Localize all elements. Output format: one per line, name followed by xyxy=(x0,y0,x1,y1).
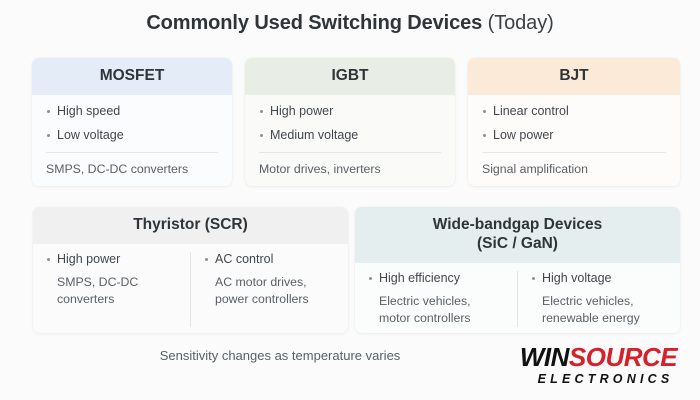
list-item: Low voltage xyxy=(46,128,218,143)
card-mosfet-bullets: High speed Low voltage xyxy=(46,104,218,152)
card-thyristor-body: High power SMPS, DC-DC converters AC con… xyxy=(33,244,348,333)
card-thyristor-title-line1: Thyristor (SCR) xyxy=(39,216,342,235)
card-thyristor-column-2: AC control AC motor drives, power contro… xyxy=(190,252,348,327)
list-item: High speed xyxy=(46,104,218,119)
card-wide-bandgap[interactable]: Wide-bandgap Devices (SiC / GaN) High ef… xyxy=(355,207,680,333)
page-title: Commonly Used Switching Devices (Today) xyxy=(0,12,700,35)
card-wide-bandgap-header: Wide-bandgap Devices (SiC / GaN) xyxy=(355,207,680,263)
list-item: Linear control xyxy=(482,104,666,119)
card-bjt-header: BJT xyxy=(468,58,680,95)
footer-note: Sensitivity changes as temperature varie… xyxy=(0,348,560,363)
card-igbt[interactable]: IGBT High power Medium voltage Motor dri… xyxy=(245,58,455,186)
card-igbt-bullets: High power Medium voltage xyxy=(259,104,441,152)
column-head: High power xyxy=(46,252,177,267)
column-desc: Electric vehicles, motor controllers xyxy=(368,293,504,327)
card-mosfet-divider xyxy=(46,152,218,153)
logo-win-text: WIN xyxy=(520,342,569,372)
column-desc: Electric vehicles, renewable energy xyxy=(531,293,667,327)
card-igbt-body: High power Medium voltage Motor drives, … xyxy=(245,95,455,186)
card-wide-bandgap-column-2: High voltage Electric vehicles, renewabl… xyxy=(517,271,680,327)
card-bjt-note: Signal amplification xyxy=(482,162,666,177)
card-thyristor[interactable]: Thyristor (SCR) High power SMPS, DC-DC c… xyxy=(33,207,348,333)
column-head: High voltage xyxy=(531,271,667,286)
card-bjt[interactable]: BJT Linear control Low power Signal ampl… xyxy=(468,58,680,186)
card-mosfet-header: MOSFET xyxy=(32,58,232,95)
card-bjt-bullets: Linear control Low power xyxy=(482,104,666,152)
column-desc: SMPS, DC-DC converters xyxy=(46,274,177,308)
logo-subtitle: ELECTRONICS xyxy=(511,373,686,386)
card-bjt-divider xyxy=(482,152,666,153)
card-mosfet-note: SMPS, DC-DC converters xyxy=(46,162,218,177)
page-title-suffix: (Today) xyxy=(488,12,554,34)
column-head: High efficiency xyxy=(368,271,504,286)
card-igbt-divider xyxy=(259,152,441,153)
card-mosfet[interactable]: MOSFET High speed Low voltage SMPS, DC-D… xyxy=(32,58,232,186)
card-thyristor-column-1: High power SMPS, DC-DC converters xyxy=(33,252,190,327)
card-wide-bandgap-title-line2: (SiC / GaN) xyxy=(361,235,674,254)
logo-source-text: SOURCE xyxy=(569,342,677,372)
logo-wordmark: WINSOURCE xyxy=(511,344,686,370)
card-bjt-body: Linear control Low power Signal amplific… xyxy=(468,95,680,186)
card-wide-bandgap-body: High efficiency Electric vehicles, motor… xyxy=(355,263,680,333)
column-head: AC control xyxy=(204,252,335,267)
winsource-logo: WINSOURCE ELECTRONICS xyxy=(511,344,686,392)
card-igbt-note: Motor drives, inverters xyxy=(259,162,441,177)
card-wide-bandgap-column-1: High efficiency Electric vehicles, motor… xyxy=(355,271,517,327)
card-mosfet-body: High speed Low voltage SMPS, DC-DC conve… xyxy=(32,95,232,186)
list-item: Medium voltage xyxy=(259,128,441,143)
column-desc: AC motor drives, power controllers xyxy=(204,274,335,308)
list-item: Low power xyxy=(482,128,666,143)
page-title-main: Commonly Used Switching Devices xyxy=(146,12,487,34)
card-thyristor-header: Thyristor (SCR) xyxy=(33,207,348,244)
card-igbt-header: IGBT xyxy=(245,58,455,95)
card-wide-bandgap-title-line1: Wide-bandgap Devices xyxy=(361,216,674,235)
list-item: High power xyxy=(259,104,441,119)
